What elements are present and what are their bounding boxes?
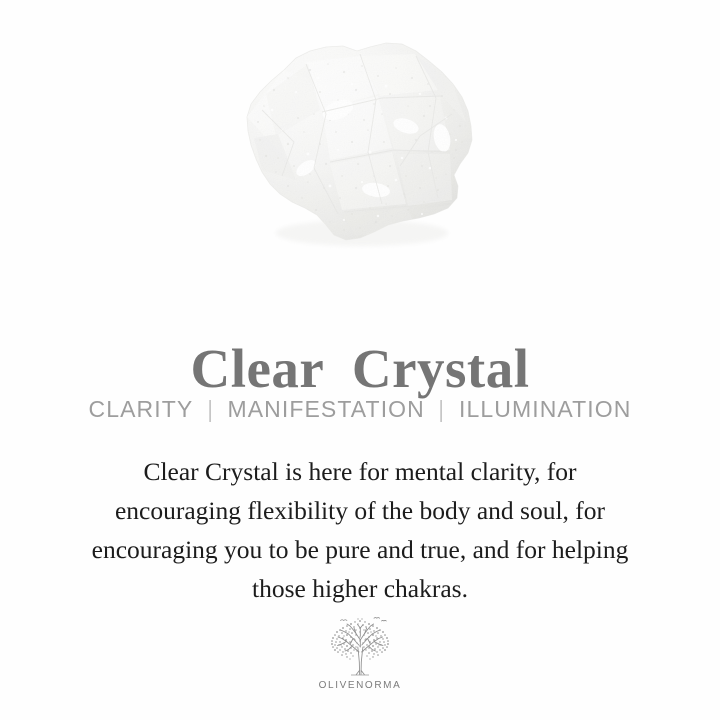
keyword-line: CLARITY | MANIFESTATION | ILLUMINATION <box>0 394 720 424</box>
crystal-info-card: Clear Crystal CLARITY | MANIFESTATION | … <box>0 0 720 720</box>
description-line: Clear Crystal is here for mental clarity… <box>30 452 690 491</box>
clear-quartz-raw-stone-image <box>210 18 510 268</box>
keyword-separator-1: | <box>204 394 217 424</box>
brand-name: OLIVENORMA <box>0 680 720 691</box>
keyword-separator-2: | <box>435 394 448 424</box>
tree-birds <box>341 618 387 621</box>
description-text: Clear Crystal is here for mental clarity… <box>30 452 690 608</box>
page-title: Clear Crystal <box>0 337 720 401</box>
tree-icon <box>320 616 400 678</box>
brand-logo: OLIVENORMA <box>0 616 720 691</box>
keyword-manifestation: MANIFESTATION <box>227 394 424 424</box>
description-line: encouraging flexibility of the body and … <box>30 491 690 530</box>
description-line: those higher chakras. <box>30 569 690 608</box>
crystal-image-container <box>0 18 720 280</box>
keyword-illumination: ILLUMINATION <box>459 394 632 424</box>
description-line: encouraging you to be pure and true, and… <box>30 530 690 569</box>
crystal-surface-detail <box>210 18 510 268</box>
keyword-clarity: CLARITY <box>89 394 194 424</box>
